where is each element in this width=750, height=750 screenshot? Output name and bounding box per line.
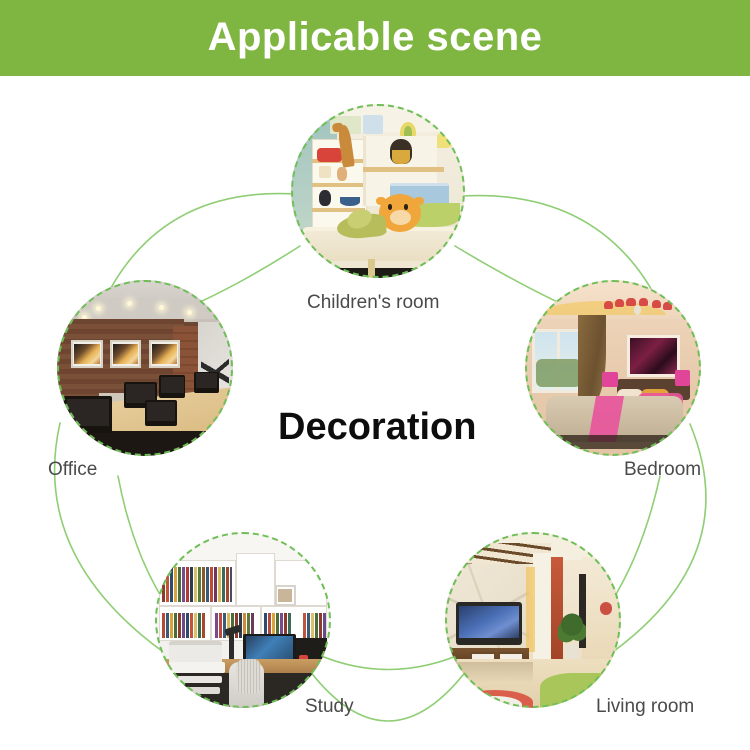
node-children-room[interactable] [291, 104, 465, 278]
office-photo [57, 280, 233, 456]
node-office[interactable] [57, 280, 233, 456]
node-bedroom[interactable] [525, 280, 701, 456]
node-living-room[interactable] [445, 532, 621, 708]
television-icon [456, 602, 523, 644]
chandelier-icon [602, 298, 672, 323]
children-room-scene-art [291, 104, 465, 278]
center-title: Decoration [278, 406, 476, 449]
bedroom-photo [525, 280, 701, 456]
label-office: Office [48, 459, 97, 481]
scene-diagram: Children's room [0, 76, 750, 750]
office-scene-art [57, 280, 233, 456]
monitor-icon [159, 375, 185, 398]
living-room-photo [445, 532, 621, 708]
label-children-room: Children's room [307, 292, 439, 314]
study-photo [155, 532, 331, 708]
node-study[interactable] [155, 532, 331, 708]
header-banner: Applicable scene [0, 0, 750, 76]
children-room-photo [291, 104, 465, 278]
applicable-scene-infographic: Applicable scene [0, 0, 750, 750]
monitor-icon [194, 372, 219, 393]
monitor-icon [145, 400, 177, 426]
monitor-icon [64, 396, 112, 433]
label-study: Study [305, 696, 354, 718]
page-title: Applicable scene [208, 17, 543, 57]
living-room-scene-art [445, 532, 621, 708]
bedroom-scene-art [525, 280, 701, 456]
label-bedroom: Bedroom [624, 459, 701, 481]
study-scene-art [155, 532, 331, 708]
label-living-room: Living room [596, 696, 694, 718]
